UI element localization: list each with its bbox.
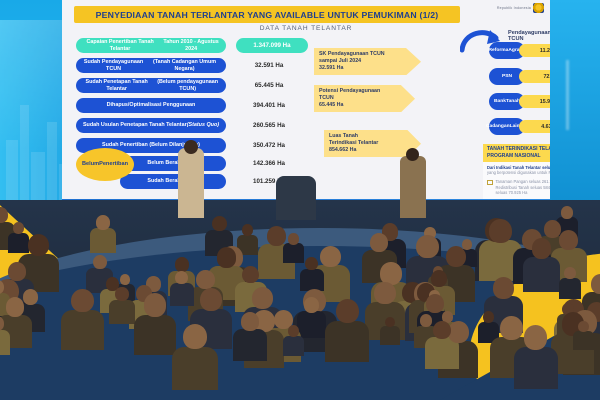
row-label: Belum Berakhir Hak bbox=[120, 156, 226, 171]
tcun-item: CadanganLainnya4.637 Ha bbox=[489, 118, 550, 135]
audience-person bbox=[267, 226, 286, 246]
note-bullet-item: Tanaman Pangan seluas 261.780 Ha, Transm… bbox=[487, 179, 550, 196]
audience-person-body bbox=[90, 228, 116, 253]
audience-person-body bbox=[514, 347, 558, 389]
audience-person bbox=[489, 219, 512, 243]
row-label: Capaian Penertiban Tanah TelantarTahun 2… bbox=[76, 38, 226, 53]
audience-person-body bbox=[233, 329, 267, 361]
audience-person bbox=[144, 293, 166, 316]
audience-person bbox=[304, 297, 319, 313]
audience-person bbox=[500, 316, 523, 340]
audience-person bbox=[524, 325, 547, 350]
audience-person bbox=[420, 314, 432, 327]
audience-person-body bbox=[325, 321, 369, 363]
audience-person bbox=[200, 288, 222, 311]
row-label: Dihapus/Optimalisasi Penggunaan bbox=[76, 98, 226, 113]
audience-person bbox=[175, 257, 189, 272]
camera-rig bbox=[276, 176, 316, 220]
audience-person-body bbox=[170, 283, 194, 306]
audience-person bbox=[305, 257, 318, 270]
table-row: Sudah Pendayagunaan TCUN(Tanah Cadangan … bbox=[76, 58, 302, 73]
row-label: Sudah Penetapan Tanah Telantar(Belum pen… bbox=[76, 78, 226, 93]
audience-person bbox=[288, 325, 299, 337]
speaker-head-right bbox=[406, 148, 419, 161]
tcun-item-value: 15.976 Ha bbox=[519, 95, 550, 108]
audience-person bbox=[6, 297, 24, 316]
garuda-icon bbox=[533, 3, 544, 13]
audience-person-body bbox=[573, 331, 594, 350]
audience-person bbox=[446, 246, 466, 267]
audience-person bbox=[120, 274, 131, 285]
audience-person bbox=[431, 270, 447, 287]
audience-person bbox=[242, 224, 253, 236]
table-row: Capaian Penertiban Tanah TelantarTahun 2… bbox=[76, 38, 308, 53]
audience-person-body bbox=[0, 330, 10, 355]
audience-person bbox=[416, 235, 438, 258]
led-backdrop-right bbox=[548, 0, 600, 215]
tcun-item: PSN721 Ha bbox=[489, 68, 550, 85]
audience-person bbox=[96, 215, 110, 230]
audience-person bbox=[374, 282, 395, 304]
audience-person bbox=[8, 262, 26, 281]
row-value: 1.347.099 Ha bbox=[236, 38, 308, 53]
skyline-graphic bbox=[0, 20, 70, 210]
audience-person-body bbox=[134, 315, 176, 355]
note-bullet-text: Tanaman Pangan seluas 261.780 Ha, Transm… bbox=[496, 179, 551, 196]
audience-person bbox=[23, 289, 39, 305]
checkbox-icon bbox=[487, 180, 493, 186]
row-label: Sudah Berakhir Hak bbox=[120, 174, 226, 189]
tcun-item: BankTanah15.976 Ha bbox=[489, 93, 550, 110]
audience-person-body bbox=[172, 347, 217, 390]
table-row: Sudah Usulan Penetapan Tanah Telantar(St… bbox=[76, 118, 302, 133]
audience-person bbox=[212, 216, 227, 232]
table-row: Dihapus/Optimalisasi Penggunaan394.401 H… bbox=[76, 98, 302, 113]
table-row: Sudah Berakhir Hak101.259 Ha bbox=[120, 174, 302, 189]
tcun-item-value: 4.637 Ha bbox=[519, 120, 550, 133]
audience-person bbox=[13, 222, 24, 234]
logo-label: Republik Indonesia bbox=[497, 6, 531, 10]
audience-person bbox=[93, 255, 107, 270]
speaker-seated-right bbox=[400, 156, 426, 218]
national-program-note: TANAH TERINDIKASI TELANTAR UNTUK PROGRAM… bbox=[483, 144, 550, 206]
speaker-standing-left bbox=[178, 148, 204, 218]
audience-person bbox=[561, 206, 573, 218]
audience-person-body bbox=[283, 243, 303, 262]
note-body: Dari Indikasi Tanah Telantar seluas 854.… bbox=[483, 162, 550, 197]
audience-person bbox=[564, 267, 576, 279]
row-value: 394.401 Ha bbox=[236, 102, 302, 109]
row-label: Sudah Usulan Penetapan Tanah Telantar(St… bbox=[76, 118, 226, 133]
note-lead2: yang berpotensi digunakan untuk Program … bbox=[487, 170, 550, 176]
audience-person bbox=[320, 246, 341, 268]
table-row: Sudah Penetapan Tanah Telantar(Belum pen… bbox=[76, 78, 302, 93]
tcun-heading: Pendayagunaan TCUN bbox=[508, 30, 550, 42]
tcun-item: ReformaAgraria11.257 Ha bbox=[489, 42, 550, 59]
audience-person bbox=[241, 312, 259, 331]
audience-person-body bbox=[380, 326, 400, 345]
audience-person bbox=[336, 299, 359, 323]
audience-person bbox=[288, 233, 299, 244]
audience-person bbox=[71, 289, 94, 313]
audience-person bbox=[532, 238, 552, 259]
audience-person bbox=[242, 266, 259, 284]
slide-title-banner: PENYEDIAAN TANAH TERLANTAR YANG AVAILABL… bbox=[74, 6, 460, 23]
audience-person bbox=[370, 233, 388, 252]
audience-person bbox=[559, 230, 578, 250]
row-value: 142.366 Ha bbox=[236, 160, 302, 167]
audience-person bbox=[183, 324, 207, 349]
row-value: 260.565 Ha bbox=[236, 122, 302, 129]
audience-person bbox=[462, 239, 472, 250]
audience-person-body bbox=[523, 257, 560, 292]
screenshot-root: Republik Indonesia PENYEDIAAN TANAH TERL… bbox=[0, 0, 600, 400]
tcun-item-value: 11.257 Ha bbox=[519, 44, 550, 57]
audience-person bbox=[217, 247, 236, 267]
audience-person-body bbox=[297, 311, 326, 338]
speaker-head-left bbox=[184, 140, 198, 154]
slide-title-text: PENYEDIAAN TANAH TERLANTAR YANG AVAILABL… bbox=[96, 10, 439, 20]
audience-person bbox=[493, 277, 514, 299]
audience-person bbox=[115, 287, 128, 301]
audience-person-body bbox=[300, 269, 324, 292]
row-value: 65.445 Ha bbox=[236, 82, 302, 89]
audience-person bbox=[252, 287, 273, 309]
row-label: Sudah Pendayagunaan TCUN(Tanah Cadangan … bbox=[76, 58, 226, 73]
audience-person bbox=[433, 321, 451, 340]
audience-person bbox=[578, 321, 589, 332]
audience-person-body bbox=[283, 336, 304, 356]
note-heading: TANAH TERINDIKASI TELANTAR UNTUK PROGRAM… bbox=[483, 144, 550, 162]
chevron-callout: SK Pendayagunaan TCUNsampai Juli 202432.… bbox=[314, 48, 421, 75]
republik-indonesia-logo: Republik Indonesia bbox=[497, 3, 544, 13]
audience-person-body bbox=[8, 233, 29, 253]
audience-person bbox=[426, 294, 444, 313]
row-value: 32.591 Ha bbox=[236, 62, 302, 69]
audience-person-body bbox=[61, 310, 104, 351]
audience-person-body bbox=[109, 300, 134, 324]
table-row: Belum Berakhir Hak142.366 Ha bbox=[120, 156, 302, 171]
audience-person-body bbox=[559, 278, 581, 299]
row-value: 350.472 Ha bbox=[236, 142, 302, 149]
audience-person bbox=[196, 270, 215, 290]
tcun-item-value: 721 Ha bbox=[519, 70, 550, 83]
chevron-callout: Potensi PendayagunaanTCUN65.445 Ha bbox=[314, 85, 415, 112]
audience-person bbox=[28, 234, 49, 256]
group-label-belum-penertiban: BelumPenertiban bbox=[76, 148, 134, 181]
